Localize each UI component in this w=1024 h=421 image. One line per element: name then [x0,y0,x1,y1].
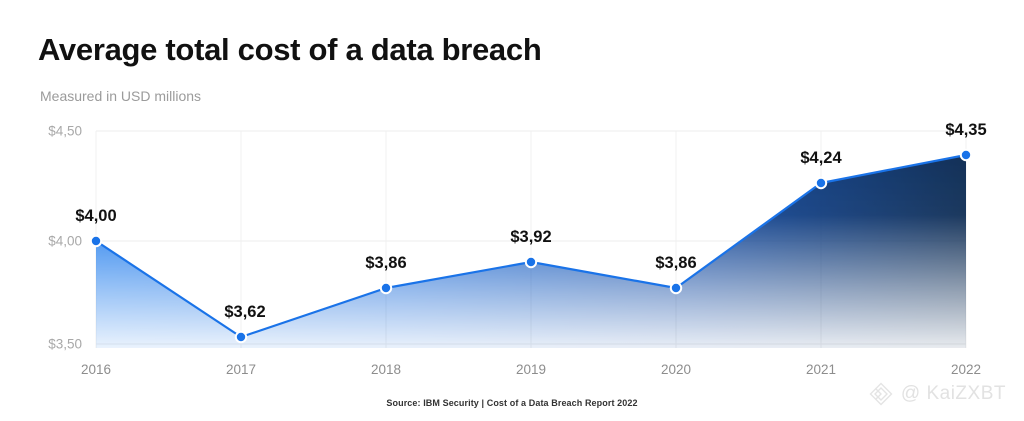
y-axis-tick-label: $4,50 [48,124,82,139]
data-point-label: $4,35 [945,121,986,140]
data-point-label: $4,24 [800,149,841,168]
area-chart-plot [0,0,1024,421]
data-point-label: $4,00 [75,207,116,226]
data-point-label: $3,86 [365,254,406,273]
x-axis-tick-label: 2022 [951,362,981,377]
x-axis-tick-label: 2016 [81,362,111,377]
chart-card: Average total cost of a data breach Meas… [0,0,1024,421]
data-point-label: $3,92 [510,228,551,247]
data-point-label: $3,62 [224,303,265,322]
data-point-label: $3,86 [655,254,696,273]
data-point-marker[interactable] [961,150,971,160]
y-axis-tick-label: $3,50 [48,337,82,352]
data-point-marker[interactable] [526,257,536,267]
data-point-marker[interactable] [671,283,681,293]
x-axis-tick-label: 2019 [516,362,546,377]
data-point-marker[interactable] [236,332,246,342]
x-axis-tick-label: 2018 [371,362,401,377]
x-axis-tick-label: 2020 [661,362,691,377]
watermark: @ KaiZXBT [868,381,1006,407]
diamond-logo-icon [868,381,894,407]
x-axis-tick-label: 2017 [226,362,256,377]
data-point-marker[interactable] [816,178,826,188]
data-point-marker[interactable] [91,236,101,246]
y-axis-tick-label: $4,00 [48,234,82,249]
watermark-handle: @ KaiZXBT [901,383,1006,405]
x-axis-tick-label: 2021 [806,362,836,377]
data-point-marker[interactable] [381,283,391,293]
